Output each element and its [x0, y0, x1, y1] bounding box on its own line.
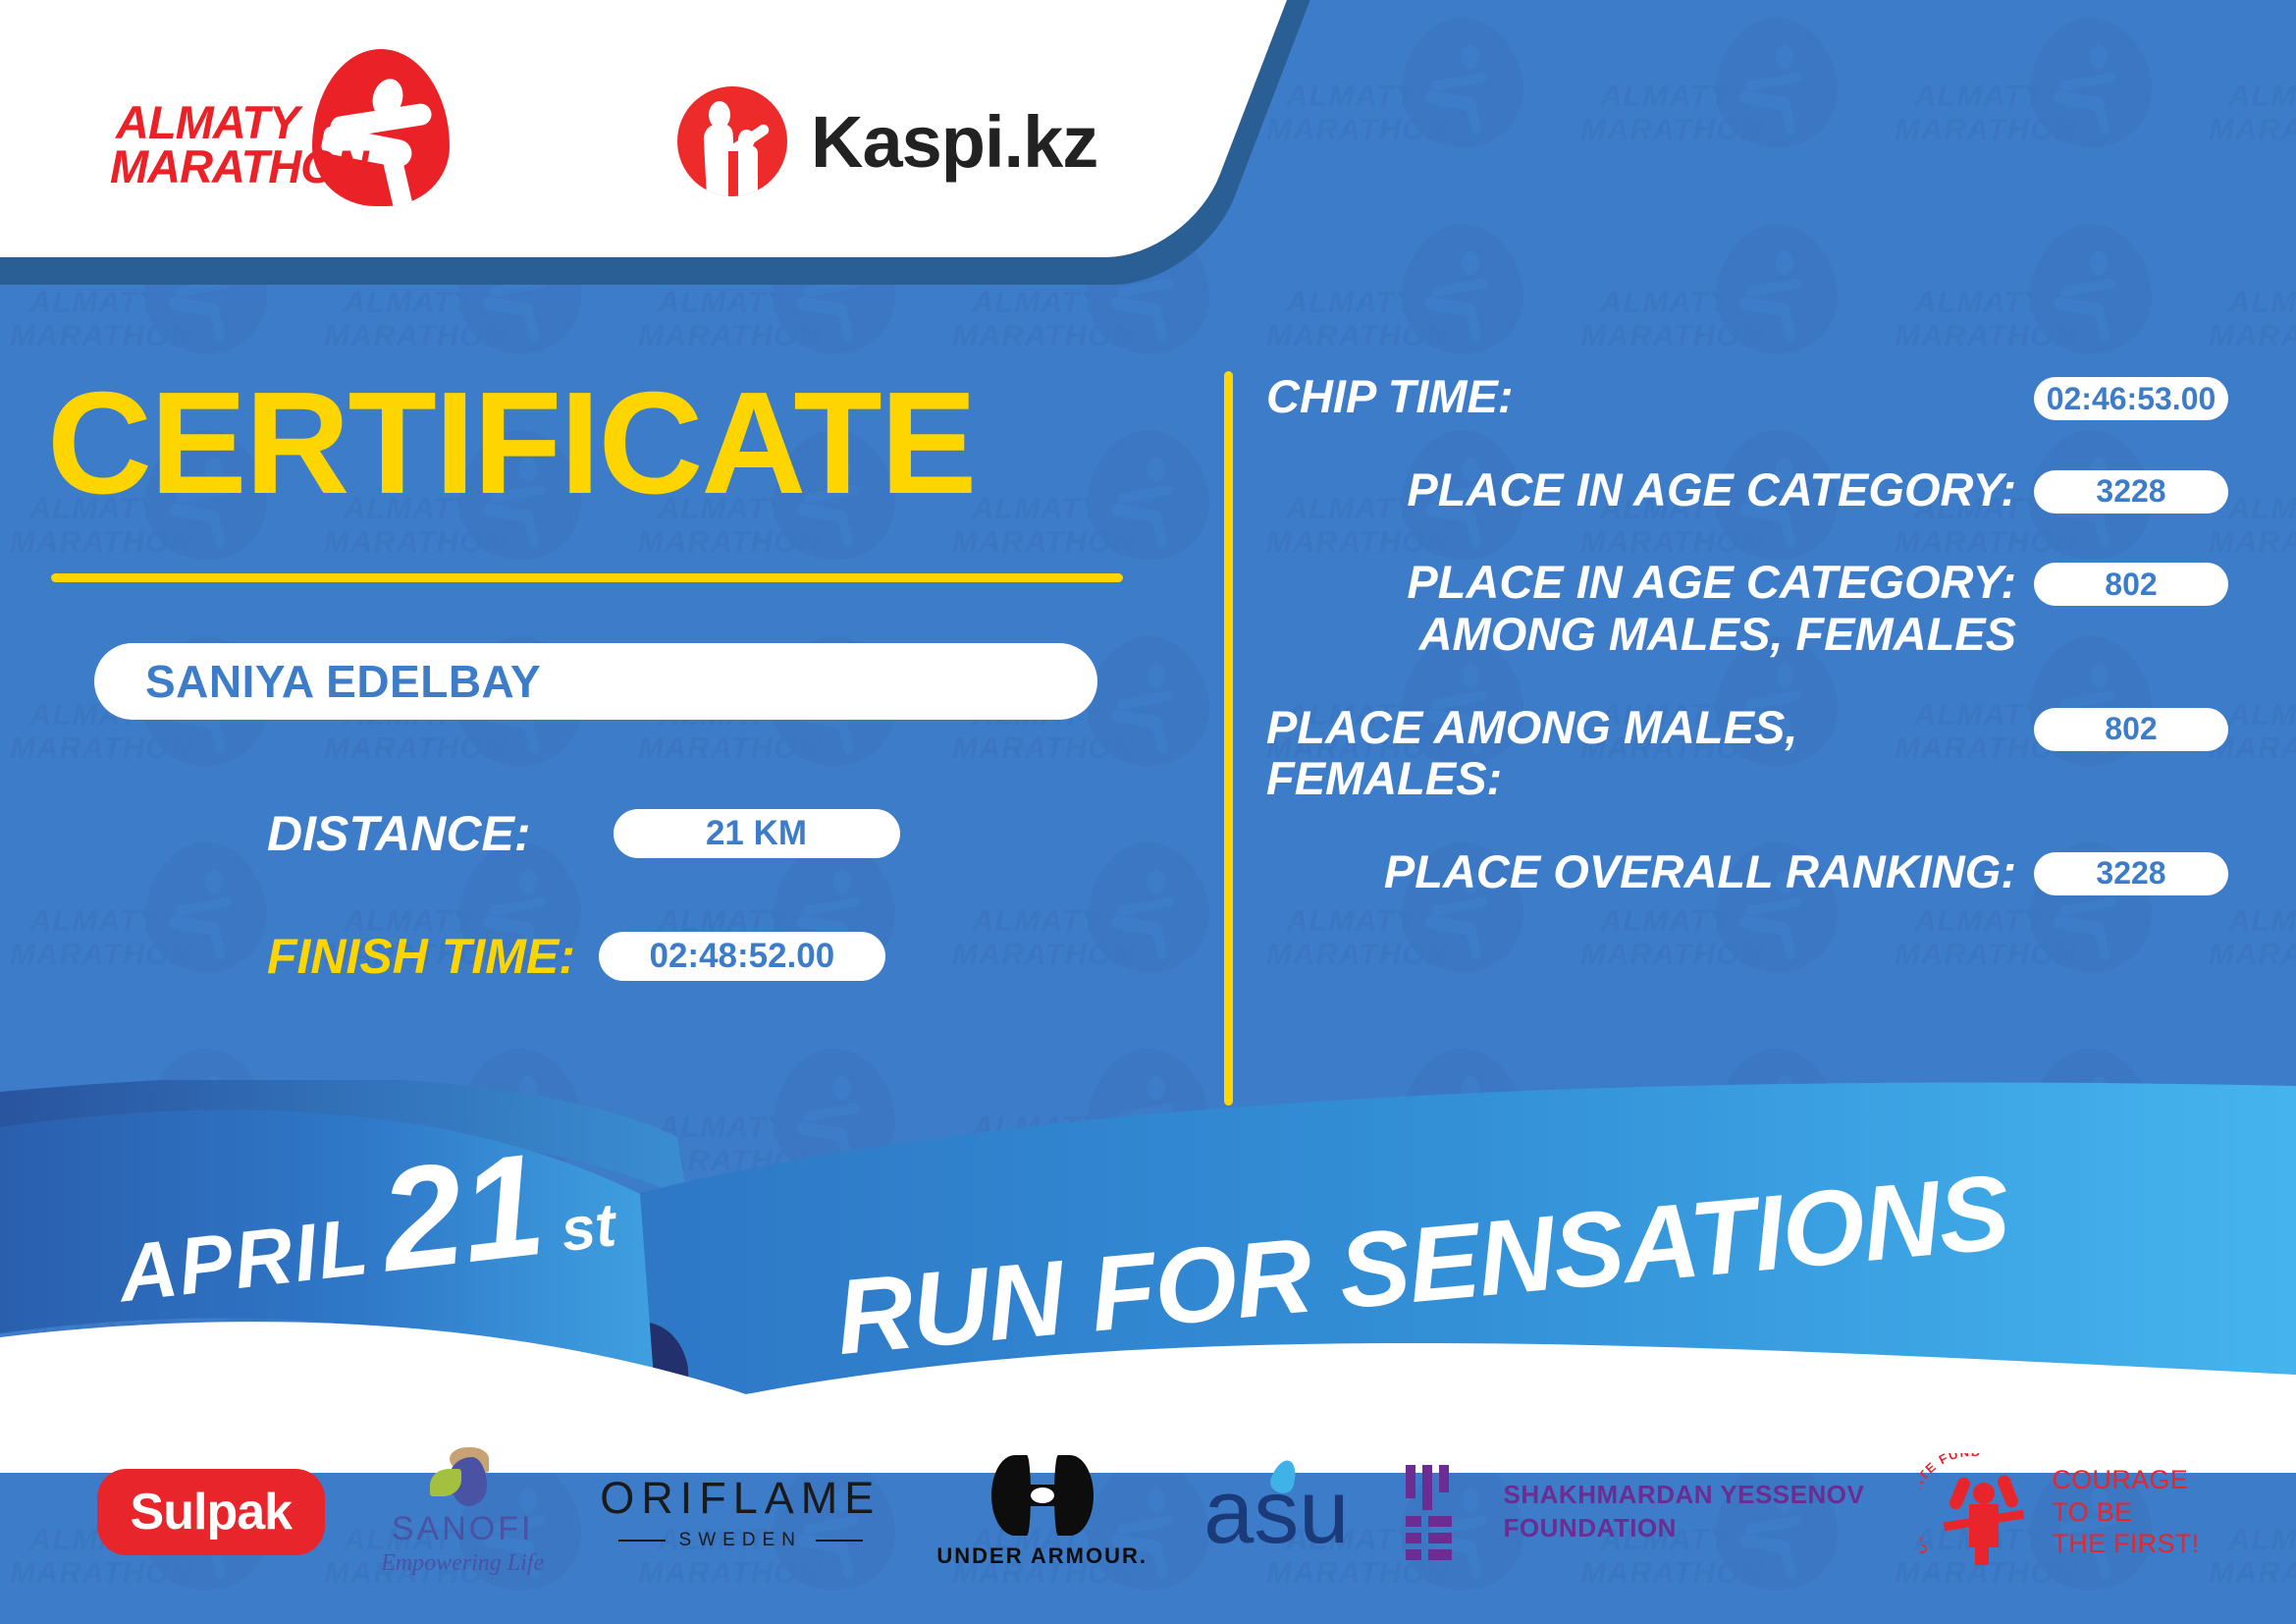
courage-line-1: COURAGE: [2052, 1464, 2199, 1496]
courage-figure: ★: [1953, 1471, 2014, 1565]
yessenov-line-2: FOUNDATION: [1504, 1512, 1865, 1545]
sponsor-courage-fund: CORPORATE FUND ★ COURAGE T: [1920, 1453, 2199, 1571]
sponsor-sanofi: SANOFI Empowering Life: [381, 1447, 544, 1577]
kaspi-logo: Kaspi.kz: [677, 86, 1097, 196]
sponsor-asu: asu: [1203, 1474, 1349, 1550]
stat-row-place-age-category: PLACE IN AGE CATEGORY: 3228: [1266, 464, 2228, 516]
place-overall-label: PLACE OVERALL RANKING:: [1266, 846, 2034, 898]
yessenov-wordmark: SHAKHMARDAN YESSENOV FOUNDATION: [1504, 1479, 1865, 1545]
place-among-gender-label: PLACE AMONG MALES, FEMALES:: [1266, 702, 2034, 805]
sanofi-logo: SANOFI Empowering Life: [381, 1447, 544, 1577]
under-armour-emblem-icon: [991, 1455, 1094, 1536]
almaty-marathon-wordmark: ALMATY MARATHON: [116, 100, 312, 189]
distance-value: 21 KM: [614, 809, 900, 858]
sanofi-tagline: Empowering Life: [381, 1550, 544, 1577]
yessenov-logo: SHAKHMARDAN YESSENOV FOUNDATION: [1406, 1465, 1865, 1560]
oriflame-logo: ORIFLAME SWEDEN: [600, 1473, 881, 1551]
stat-row-place-age-category-gender: PLACE IN AGE CATEGORY: AMONG MALES, FEMA…: [1266, 557, 2228, 660]
finish-time-label: FINISH TIME:: [267, 928, 575, 985]
stat-row-chip-time: CHIP TIME: 02:46:53.00: [1266, 371, 2228, 423]
chip-time-value: 02:46:53.00: [2034, 377, 2228, 420]
sponsor-under-armour: UNDER ARMOUR.: [936, 1455, 1148, 1569]
sponsor-oriflame: ORIFLAME SWEDEN: [600, 1473, 881, 1551]
under-armour-logo: UNDER ARMOUR.: [936, 1455, 1148, 1569]
oriflame-rule-right: [816, 1540, 863, 1542]
under-armour-wordmark: UNDER ARMOUR.: [936, 1543, 1148, 1569]
page-title: CERTIFICATE: [47, 371, 1147, 516]
courage-runner-icon: CORPORATE FUND ★: [1920, 1453, 2036, 1571]
sponsor-yessenov-foundation: SHAKHMARDAN YESSENOV FOUNDATION: [1406, 1465, 1865, 1560]
courage-line-3: THE FIRST!: [2052, 1528, 2199, 1560]
courage-line-2: TO BE: [2052, 1496, 2199, 1529]
vertical-divider: [1224, 371, 1233, 1106]
kaspi-wordmark: Kaspi.kz: [811, 100, 1097, 184]
participant-name-field: SANIYA EDELBAY: [94, 643, 1097, 720]
oriflame-sub: SWEDEN: [618, 1530, 863, 1551]
distance-label: DISTANCE:: [267, 805, 531, 862]
kaspi-adult-and-child-circle-icon: [677, 86, 787, 196]
place-age-category-gender-value: 802: [2034, 563, 2228, 606]
sulpak-logo: Sulpak: [97, 1469, 326, 1555]
oriflame-wordmark: ORIFLAME: [600, 1473, 881, 1524]
sanofi-wordmark: SANOFI: [392, 1510, 534, 1548]
oriflame-country: SWEDEN: [679, 1530, 802, 1551]
stat-row-place-among-gender: PLACE AMONG MALES, FEMALES: 802: [1266, 702, 2228, 805]
finish-time-row: FINISH TIME: 02:48:52.00: [267, 928, 885, 985]
place-among-gender-value: 802: [2034, 708, 2228, 751]
place-age-category-label: PLACE IN AGE CATEGORY:: [1266, 464, 2034, 516]
yessenov-line-1: SHAKHMARDAN YESSENOV: [1504, 1479, 1865, 1512]
almaty-line-1: ALMATY: [116, 100, 312, 144]
ribbon-ordinal: st: [558, 1190, 619, 1266]
oriflame-rule-left: [618, 1540, 666, 1542]
distance-row: DISTANCE: 21 KM: [267, 805, 900, 862]
almaty-line-2: MARATHON: [110, 144, 312, 189]
certificate-canvas: ALMATY MARATHON ALMATY MARATHON Kasp: [0, 0, 2296, 1624]
courage-wordmark: COURAGE TO BE THE FIRST!: [2052, 1464, 2199, 1561]
sponsor-sulpak: Sulpak: [97, 1469, 326, 1555]
sponsor-bar: Sulpak SANOFI Empowering Life ORIFLAME S…: [0, 1429, 2296, 1596]
sanofi-bird-icon: [428, 1447, 497, 1508]
place-age-category-value: 3228: [2034, 470, 2228, 514]
asu-logo: asu: [1203, 1474, 1349, 1550]
ribbon-day: 21: [376, 1147, 550, 1280]
place-age-category-gender-label: PLACE IN AGE CATEGORY: AMONG MALES, FEMA…: [1266, 557, 2034, 660]
place-overall-value: 3228: [2034, 852, 2228, 895]
courage-logo: CORPORATE FUND ★ COURAGE T: [1920, 1453, 2199, 1571]
stats-panel: CHIP TIME: 02:46:53.00 PLACE IN AGE CATE…: [1266, 371, 2228, 939]
participant-name-value: SANIYA EDELBAY: [145, 655, 541, 708]
title-underline: [51, 573, 1123, 582]
yessenov-bars-icon: [1406, 1465, 1482, 1560]
chip-time-label: CHIP TIME:: [1266, 371, 2034, 423]
almaty-marathon-logo: ALMATY MARATHON: [116, 49, 450, 206]
finish-time-value: 02:48:52.00: [599, 932, 885, 981]
stat-row-place-overall: PLACE OVERALL RANKING: 3228: [1266, 846, 2228, 898]
